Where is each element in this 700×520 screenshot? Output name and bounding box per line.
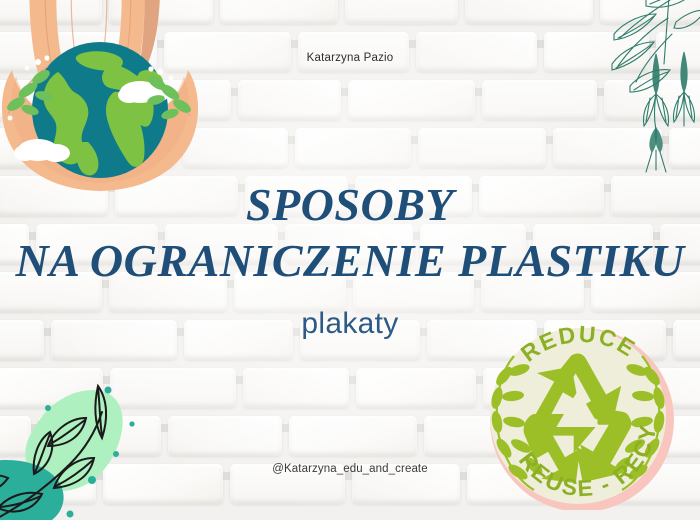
title-line-1: SPOSOBY [0, 178, 700, 231]
subtitle: plakaty [0, 307, 700, 341]
title-line-2: NA OGRANICZENIE PLASTIKU [0, 234, 700, 287]
leaf-branch-illustration [0, 348, 180, 520]
fuchsia-botanical-illustration [584, 0, 700, 174]
hands-globe-illustration [0, 0, 212, 202]
author-name: Katarzyna Pazio [0, 52, 700, 64]
slide-canvas: REDUCE REUSE - RECYCLE Katarzyna Pazio S… [0, 0, 700, 520]
social-handle: @Katarzyna_edu_and_create [0, 463, 700, 475]
